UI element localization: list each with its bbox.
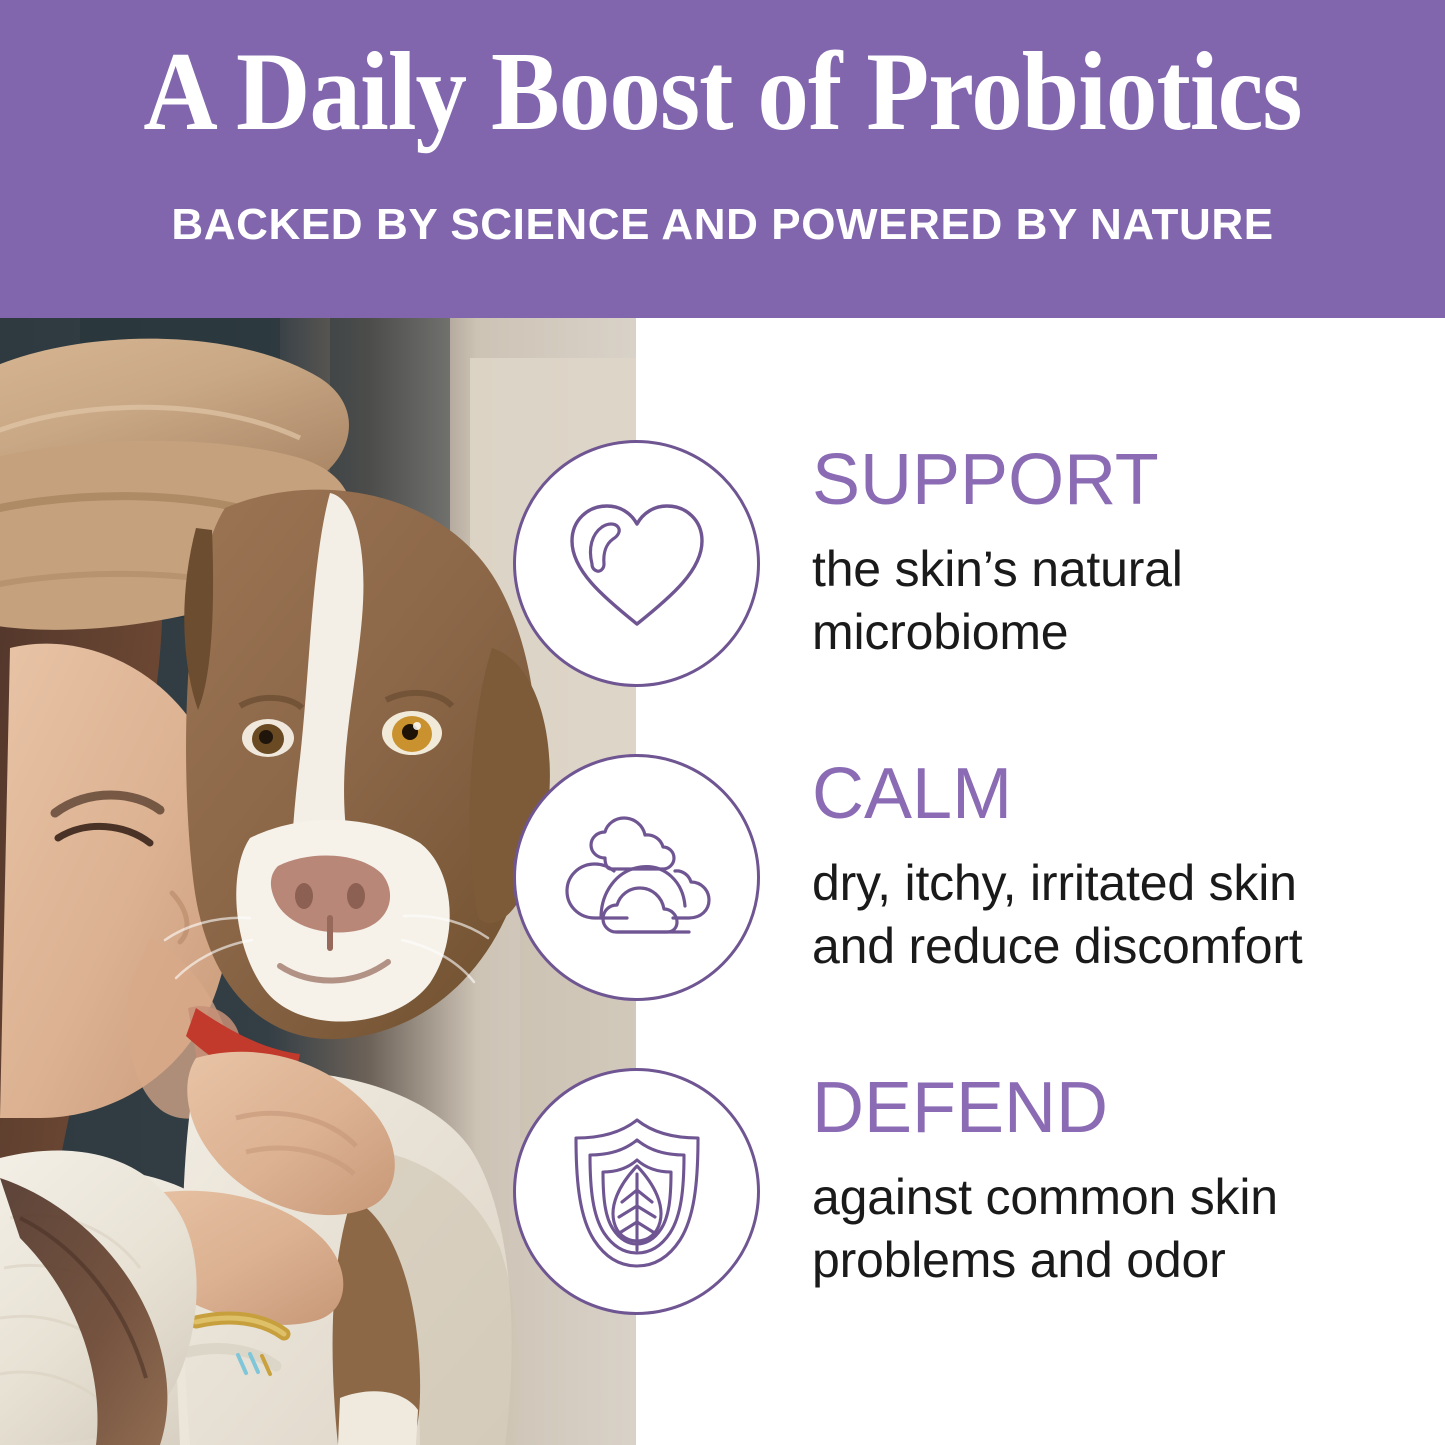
benefit-desc-line: and reduce discomfort [812, 915, 1432, 978]
heart-icon-badge [513, 440, 760, 687]
header-banner: A Daily Boost of Probiotics BACKED BY SC… [0, 0, 1445, 318]
benefit-title-calm: CALM [812, 758, 1432, 830]
benefit-desc-line: microbiome [812, 601, 1432, 664]
benefit-text-defend: DEFEND against common skin problems and … [812, 1072, 1432, 1292]
benefit-desc-calm: dry, itchy, irritated skin and reduce di… [812, 852, 1432, 978]
benefit-text-support: SUPPORT the skin’s natural microbiome [812, 444, 1432, 664]
benefit-title-defend: DEFEND [812, 1072, 1432, 1144]
benefit-desc-support: the skin’s natural microbiome [812, 538, 1432, 664]
benefit-item-calm: CALM dry, itchy, irritated skin and redu… [0, 754, 1445, 1004]
benefit-text-calm: CALM dry, itchy, irritated skin and redu… [812, 758, 1432, 978]
shield-leaf-icon-badge [513, 1068, 760, 1315]
page-subtitle: BACKED BY SCIENCE AND POWERED BY NATURE [0, 203, 1445, 247]
clouds-icon-badge [513, 754, 760, 1001]
benefit-desc-line: against common skin [812, 1166, 1432, 1229]
benefit-desc-line: the skin’s natural [812, 538, 1432, 601]
benefit-item-defend: DEFEND against common skin problems and … [0, 1068, 1445, 1318]
benefit-desc-line: dry, itchy, irritated skin [812, 852, 1432, 915]
page-title: A Daily Boost of Probiotics [58, 36, 1387, 148]
benefit-item-support: SUPPORT the skin’s natural microbiome [0, 440, 1445, 690]
product-benefits-infographic: A Daily Boost of Probiotics BACKED BY SC… [0, 0, 1445, 1445]
benefit-desc-line: problems and odor [812, 1229, 1432, 1292]
benefit-title-support: SUPPORT [812, 444, 1432, 516]
benefit-desc-defend: against common skin problems and odor [812, 1166, 1432, 1292]
